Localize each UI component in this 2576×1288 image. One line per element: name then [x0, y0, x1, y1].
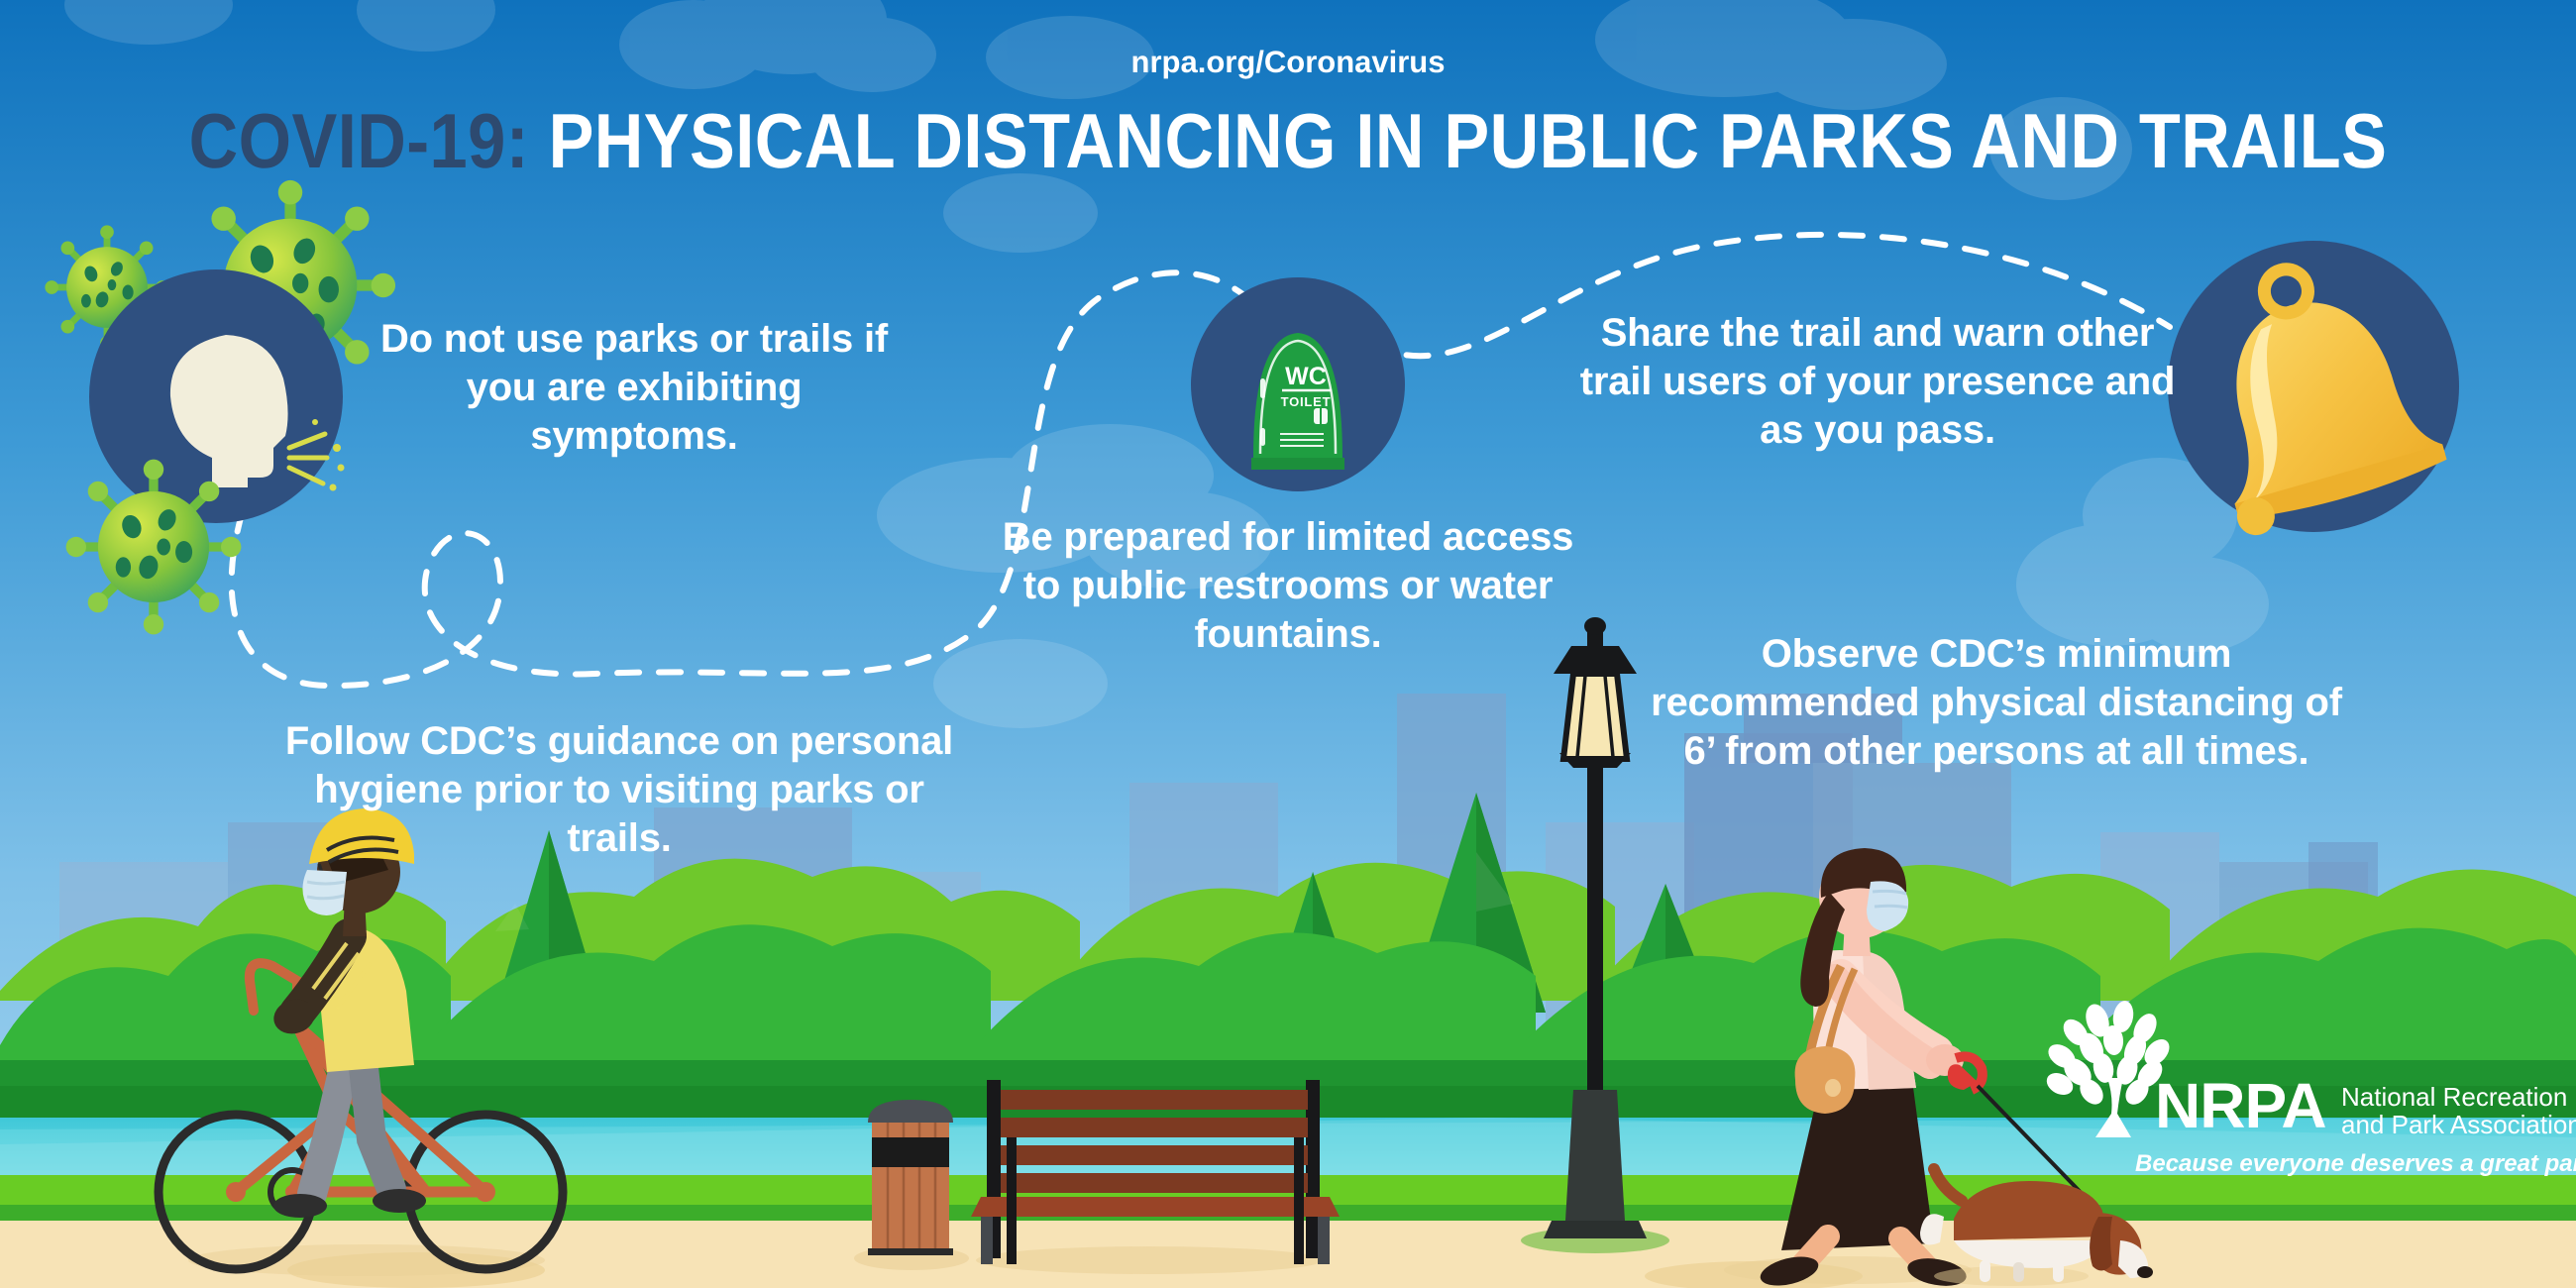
symptoms-icon-group [45, 180, 395, 634]
title-covid: COVID-19 [189, 97, 506, 184]
toilet-wc-label: WC [1285, 363, 1327, 390]
page-title: COVID-19: PHYSICAL DISTANCING IN PUBLIC … [155, 94, 2421, 188]
callout-distancing: Observe CDC’s minimum recommended physic… [1645, 630, 2348, 775]
restroom-icon-group: WC TOILET [1191, 277, 1405, 491]
callout-symptoms: Do not use parks or trails if you are ex… [376, 315, 892, 460]
toilet-toilet-label: TOILET [1281, 394, 1332, 409]
title-rest: PHYSICAL DISTANCING IN PUBLIC PARKS AND … [529, 97, 2387, 184]
virus-particle-icon [66, 460, 242, 635]
callout-restrooms: Be prepared for limited access to public… [991, 513, 1585, 658]
infographic-canvas: NRPA National Recreation and Park Associ… [0, 0, 2576, 1288]
callout-hygiene: Follow CDC’s guidance on personal hygien… [277, 717, 961, 862]
bell-icon-group [2168, 241, 2459, 540]
title-colon: : [506, 97, 529, 184]
url-label: nrpa.org/Coronavirus [0, 44, 2576, 81]
callout-share-trail: Share the trail and warn other trail use… [1575, 309, 2180, 454]
